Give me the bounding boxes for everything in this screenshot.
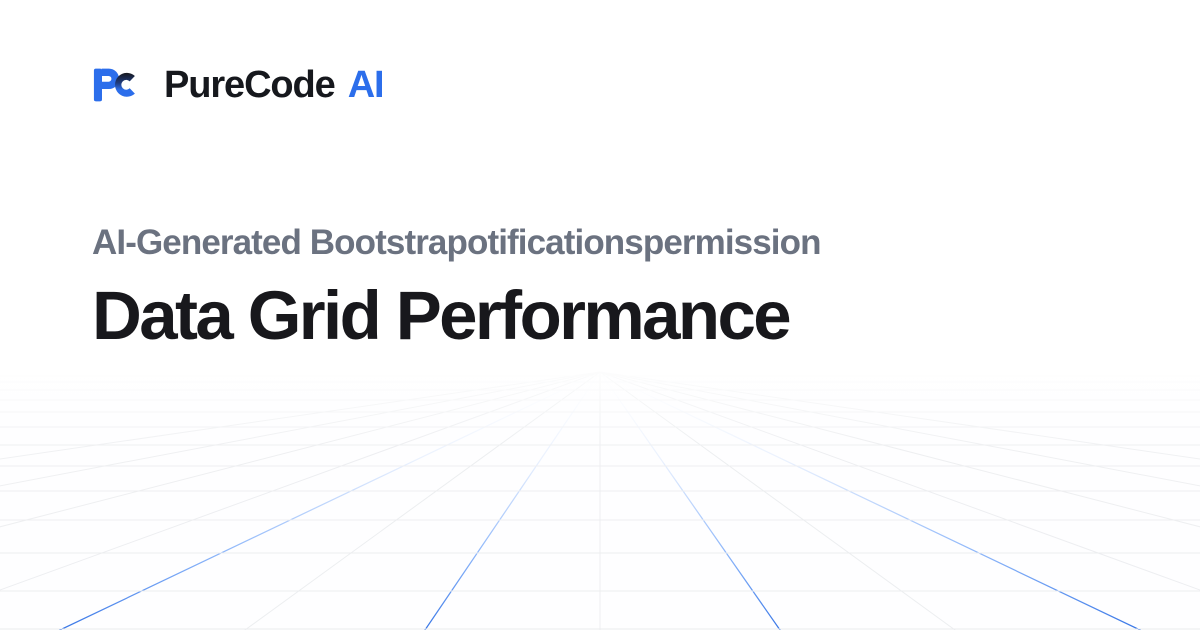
page-title: Data Grid Performance xyxy=(92,279,1112,354)
brand-suffix: AI xyxy=(348,66,384,104)
brand-wordmark: PureCode AI xyxy=(164,66,384,104)
eyebrow-text: AI-Generated Bootstrapotificationspermis… xyxy=(92,222,1112,263)
purecode-pc-monogram-icon xyxy=(92,60,142,110)
card-content: PureCode AI AI-Generated Bootstrapotific… xyxy=(0,0,1200,630)
brand-lockup: PureCode AI xyxy=(92,60,384,110)
og-card: PureCode AI AI-Generated Bootstrapotific… xyxy=(0,0,1200,630)
headline-block: AI-Generated Bootstrapotificationspermis… xyxy=(92,222,1112,354)
brand-name: PureCode xyxy=(164,66,335,104)
